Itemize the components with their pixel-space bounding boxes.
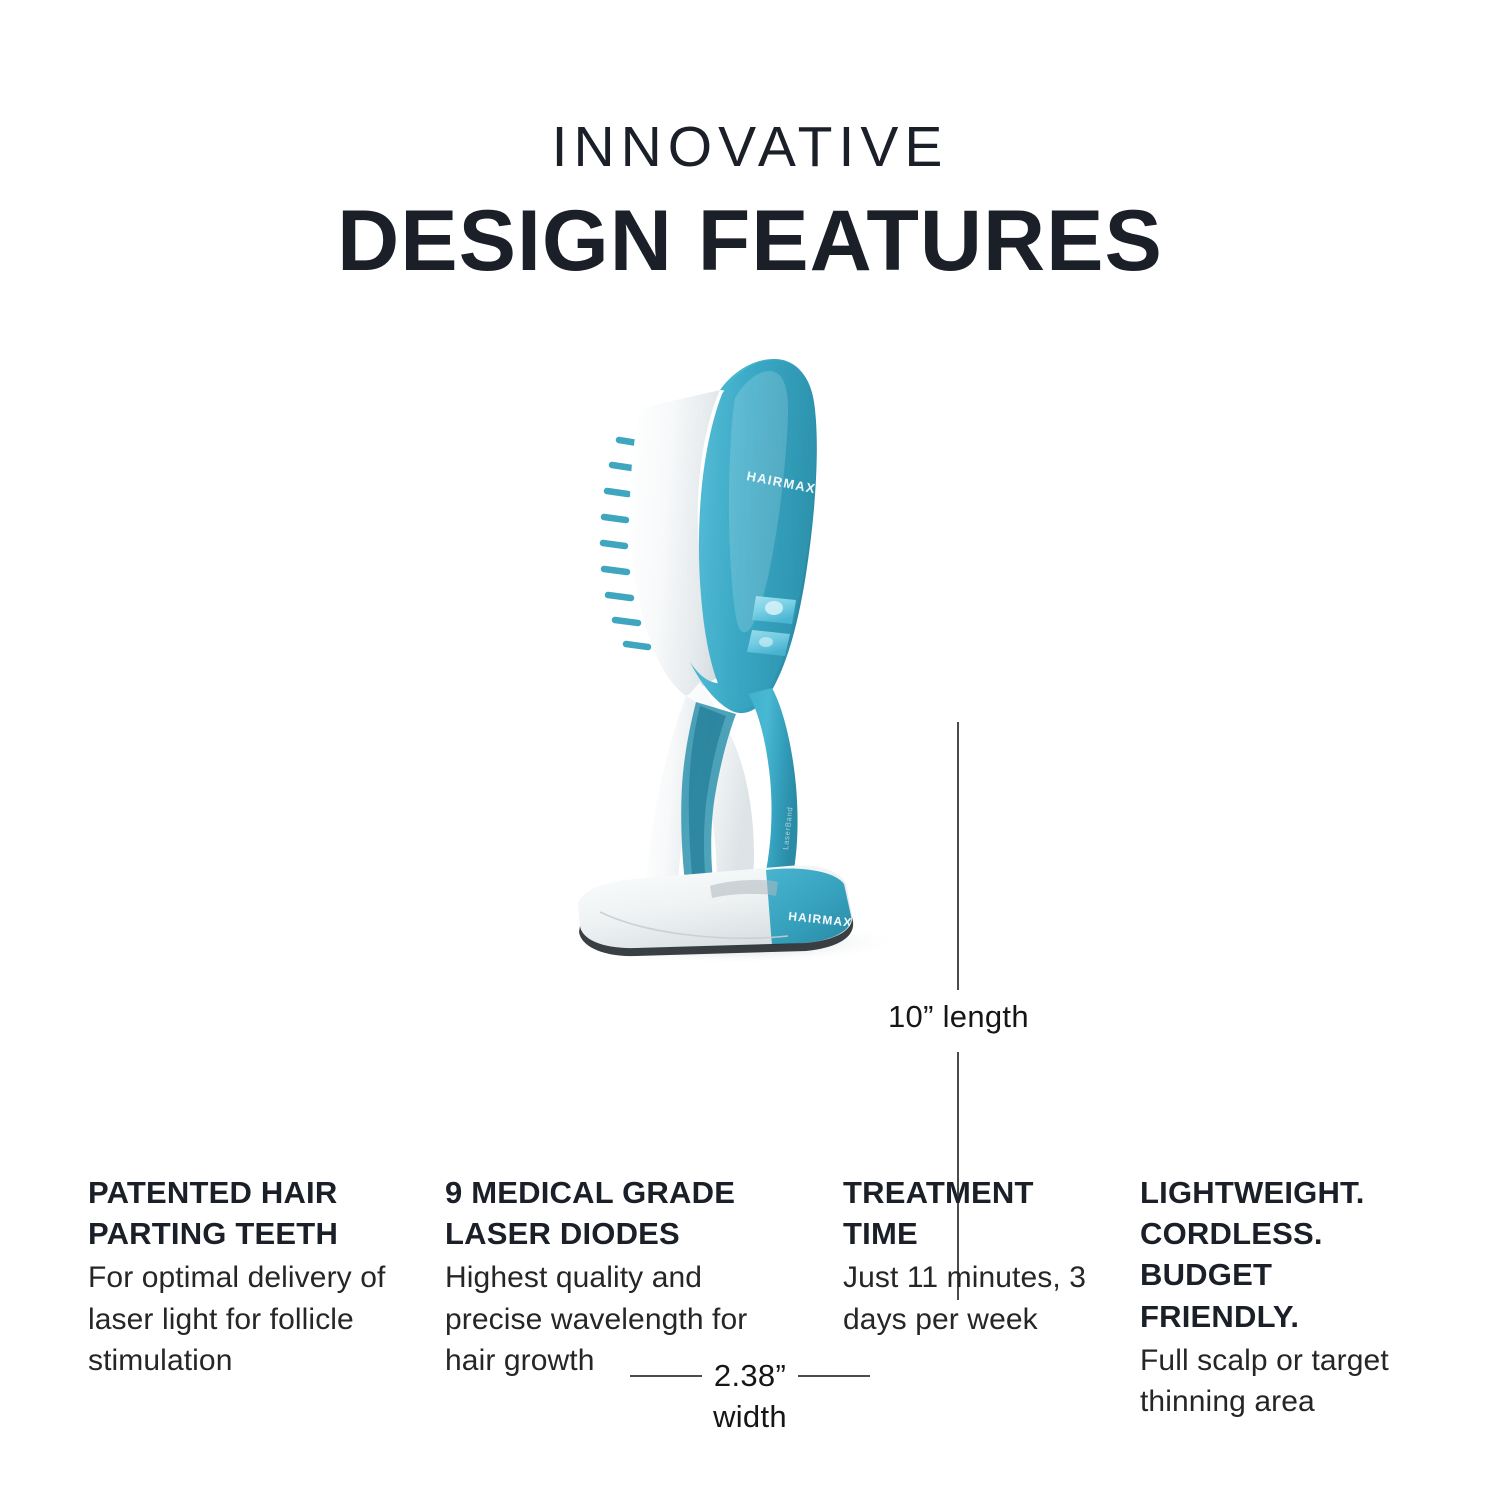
feature-title: 9 MEDICAL GRADE LASER DIODES	[445, 1172, 755, 1254]
feature-title: LIGHTWEIGHT. CORDLESS. BUDGET FRIENDLY.	[1140, 1172, 1440, 1337]
power-indicator-light	[765, 601, 783, 615]
eyebrow-title: INNOVATIVE	[0, 118, 1500, 178]
feature-item-patented-teeth: PATENTED HAIR PARTING TEETH For optimal …	[88, 1172, 408, 1382]
product-stage: HAIRMAX LaserBand HAIRMAX	[0, 350, 1500, 1070]
feature-list: PATENTED HAIR PARTING TEETH For optimal …	[0, 1172, 1500, 1452]
mode-indicator-light	[759, 637, 773, 647]
page-header: INNOVATIVE DESIGN FEATURES	[0, 118, 1500, 287]
charging-base-accent	[766, 869, 851, 945]
feature-description: Full scalp or target thinning area	[1140, 1340, 1440, 1423]
feature-item-lightweight-cordless: LIGHTWEIGHT. CORDLESS. BUDGET FRIENDLY. …	[1140, 1172, 1440, 1423]
feature-item-treatment-time: TREATMENT TIME Just 11 minutes, 3 days p…	[843, 1172, 1098, 1340]
feature-description: Just 11 minutes, 3 days per week	[843, 1257, 1098, 1340]
length-dimension-label: 10” length	[888, 999, 1029, 1035]
feature-title: PATENTED HAIR PARTING TEETH	[88, 1172, 408, 1254]
feature-description: Highest quality and precise wavelength f…	[445, 1257, 755, 1381]
page-title: DESIGN FEATURES	[0, 196, 1500, 287]
handle-teal-edge	[748, 688, 798, 896]
infographic-page: INNOVATIVE DESIGN FEATURES	[0, 0, 1500, 1500]
feature-title: TREATMENT TIME	[843, 1172, 1098, 1254]
product-image: HAIRMAX LaserBand HAIRMAX	[520, 350, 960, 970]
feature-description: For optimal delivery of laser light for …	[88, 1257, 408, 1381]
length-dimension-line-upper	[957, 722, 959, 990]
feature-item-laser-diodes: 9 MEDICAL GRADE LASER DIODES Highest qua…	[445, 1172, 755, 1382]
